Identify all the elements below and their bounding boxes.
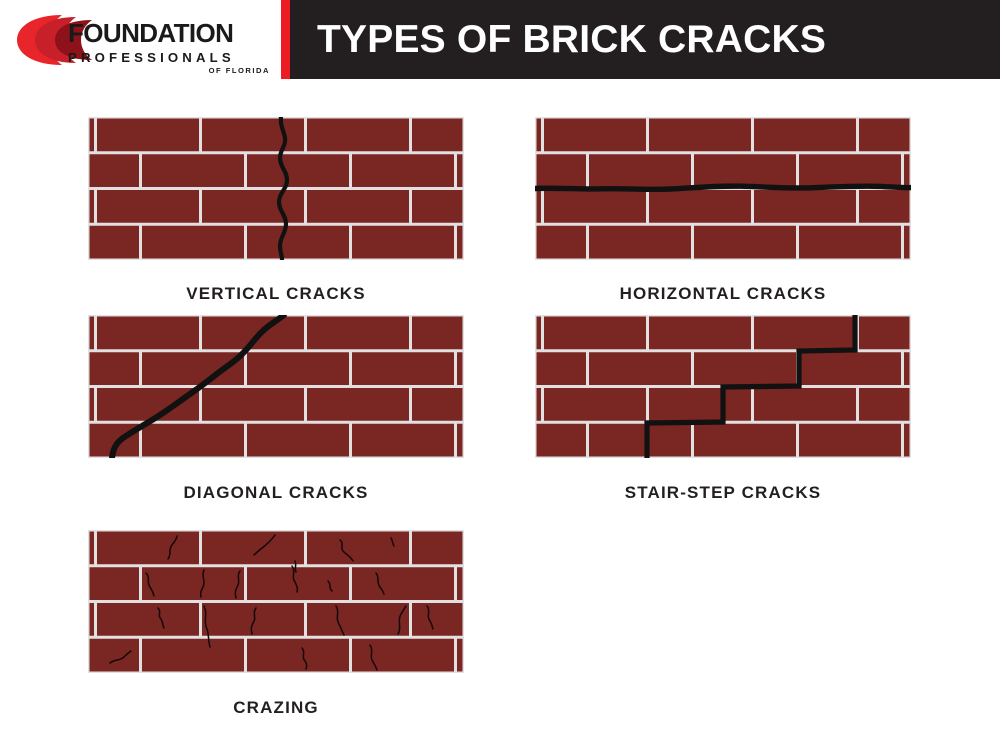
- brick-wall-vertical: [88, 117, 464, 260]
- logo-line-foundation: FOUNDATION: [68, 22, 277, 48]
- panel-label-crazing: CRAZING: [88, 699, 464, 716]
- brick-wall-diagonal: [88, 315, 464, 458]
- page-header: FOUNDATION PROFESSIONALS OF FLORIDA TYPE…: [0, 0, 1000, 79]
- brick-wall-crazing: [88, 530, 464, 673]
- brand-logo: FOUNDATION PROFESSIONALS OF FLORIDA: [0, 0, 281, 79]
- panel-vertical-cracks: VERTICAL CRACKS: [88, 117, 464, 302]
- brick-wall-horizontal: [535, 117, 911, 260]
- logo-line-of-florida: OF FLORIDA: [68, 67, 273, 75]
- panel-stairstep-cracks: STAIR-STEP CRACKS: [535, 315, 911, 501]
- panel-horizontal-cracks: HORIZONTAL CRACKS: [535, 117, 911, 302]
- panel-label-diagonal: DIAGONAL CRACKS: [88, 484, 464, 501]
- crack-path-horizontal: [535, 186, 911, 189]
- panel-diagonal-cracks: DIAGONAL CRACKS: [88, 315, 464, 501]
- header-title-band: TYPES OF BRICK CRACKS: [290, 0, 1000, 79]
- brick-wall-stairstep: [535, 315, 911, 458]
- panel-label-vertical: VERTICAL CRACKS: [88, 285, 464, 302]
- page-title: TYPES OF BRICK CRACKS: [290, 20, 826, 59]
- panel-crazing-cracks: CRAZING: [88, 530, 464, 716]
- panel-label-stairstep: STAIR-STEP CRACKS: [535, 484, 911, 501]
- header-accent-bar: [281, 0, 290, 79]
- logo-line-professionals: PROFESSIONALS: [68, 51, 273, 64]
- panel-label-horizontal: HORIZONTAL CRACKS: [535, 285, 911, 302]
